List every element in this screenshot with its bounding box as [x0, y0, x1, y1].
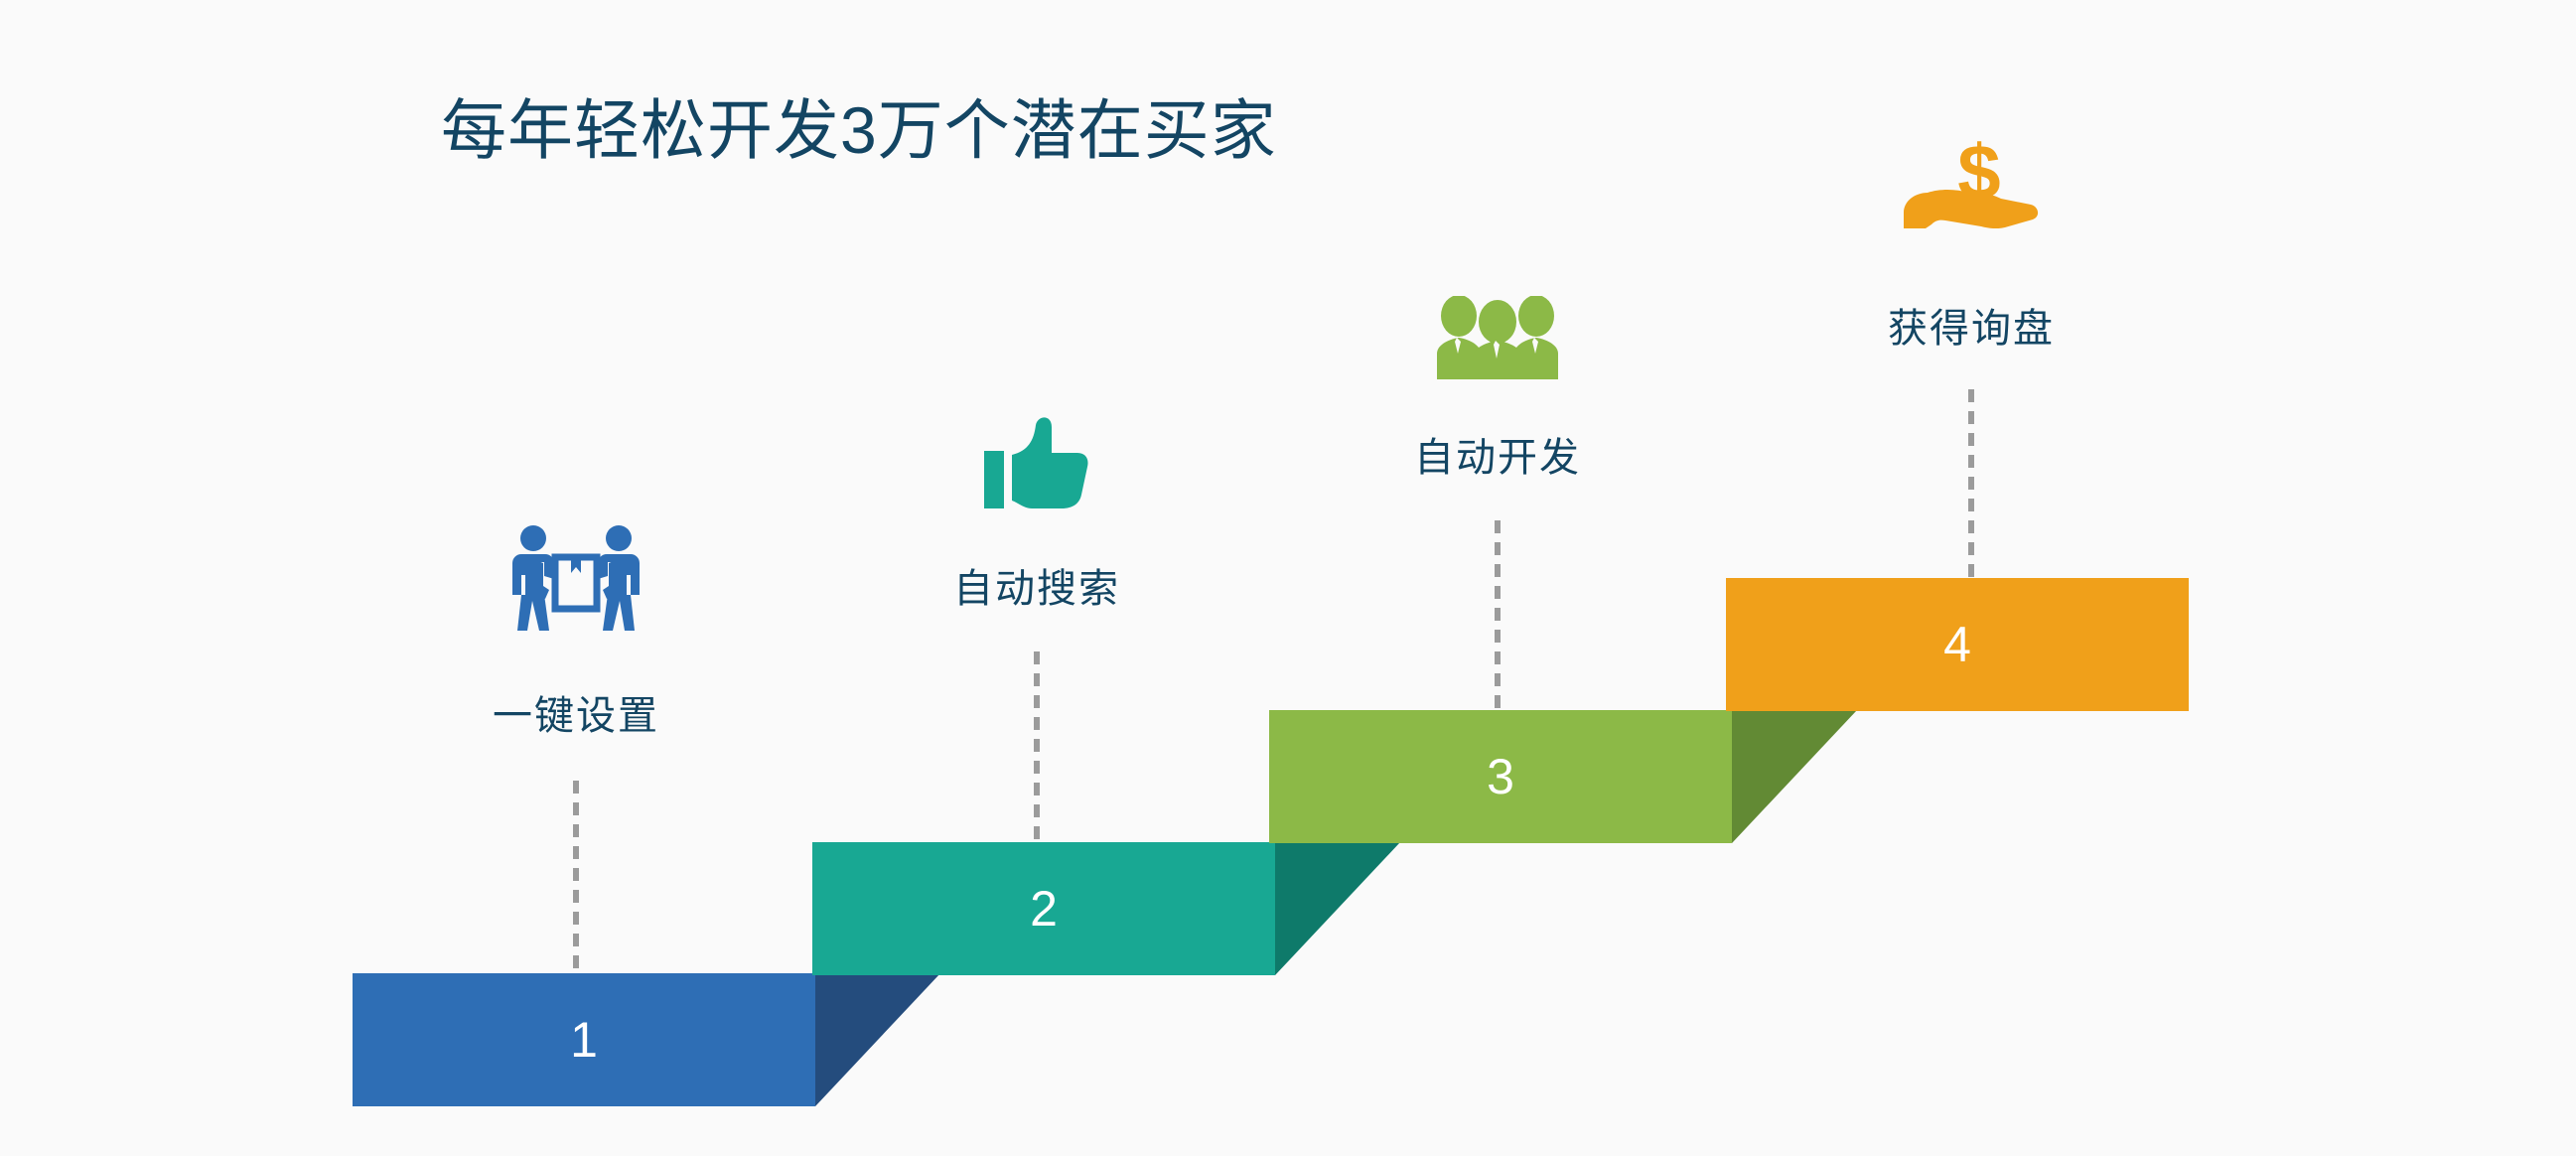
step-2-number: 2: [812, 884, 1275, 934]
page-title: 每年轻松开发3万个潜在买家: [441, 77, 1277, 173]
people-group-icon: [1433, 296, 1562, 379]
step-4-caption: 获得询盘: [1888, 296, 2055, 354]
thumbs-up-icon: [984, 415, 1089, 510]
step-2-ramp: [1275, 842, 1400, 975]
step-4-block[interactable]: 4: [1726, 578, 2189, 711]
step-3-block[interactable]: 3: [1269, 710, 1732, 843]
step-1-ramp: [815, 973, 940, 1106]
step-4-connector: [1968, 389, 1974, 578]
step-1-caption: 一键设置: [493, 683, 659, 741]
step-2-caption: 自动搜索: [953, 556, 1120, 614]
step-2-block[interactable]: 2: [812, 842, 1275, 975]
step-1-block[interactable]: 1: [353, 973, 815, 1106]
step-3-caption: 自动开发: [1414, 425, 1581, 483]
step-3-number: 3: [1269, 752, 1732, 801]
hand-money-icon: $: [1902, 127, 2041, 228]
step-4-number: 4: [1726, 620, 2189, 669]
step-3-connector: [1495, 520, 1501, 710]
step-2-connector: [1034, 651, 1040, 842]
step-1-connector: [573, 781, 579, 973]
step-3-ramp: [1732, 710, 1857, 843]
infographic-canvas: 每年轻松开发3万个潜在买家 一键设置: [0, 0, 2576, 1156]
step-1-number: 1: [353, 1015, 815, 1065]
movers-box-icon: [501, 524, 650, 634]
